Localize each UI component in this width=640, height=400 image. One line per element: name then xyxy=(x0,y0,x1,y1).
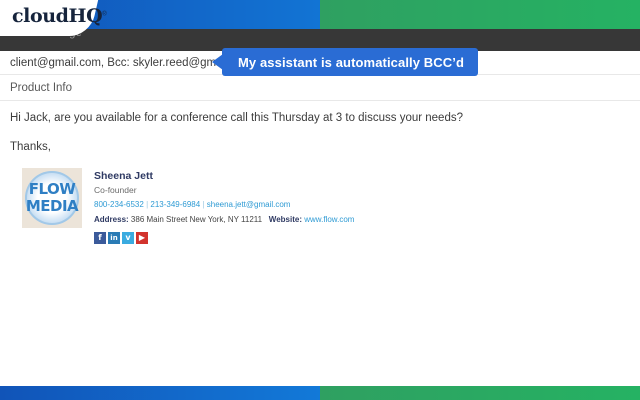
contact-separator-2: | xyxy=(202,200,204,209)
contact-separator-1: | xyxy=(146,200,148,209)
compose-body: client@gmail.com, Bcc: skyler.reed@gmail… xyxy=(0,51,640,244)
callout-text: My assistant is automatically BCC’d xyxy=(238,55,464,70)
message-body-line-1: Hi Jack, are you available for a confere… xyxy=(10,112,630,124)
bottom-bar-green-segment xyxy=(320,386,640,400)
address-label: Address: xyxy=(94,215,129,224)
registered-trademark-icon: ® xyxy=(102,12,106,18)
email-signature: FLOW MEDIA Sheena Jett Co-founder 800-23… xyxy=(10,164,630,244)
signature-phone-1[interactable]: 800-234-6532 xyxy=(94,200,144,209)
bottom-bar-blue-segment xyxy=(0,386,320,400)
callout-arrow-icon xyxy=(212,54,223,70)
address-value: 386 Main Street New York, NY 11211 xyxy=(131,215,262,224)
youtube-icon[interactable]: ▶ xyxy=(136,232,148,244)
twitter-icon[interactable]: ᴠ xyxy=(122,232,134,244)
signature-phone-2[interactable]: 213-349-6984 xyxy=(150,200,200,209)
linkedin-icon[interactable]: in xyxy=(108,232,120,244)
signature-details: Sheena Jett Co-founder 800-234-6532 | 21… xyxy=(82,168,354,244)
callout-bubble: My assistant is automatically BCC’d xyxy=(222,48,478,76)
cloudhq-logo: cloudHQ® xyxy=(12,7,106,27)
signature-contact-line: 800-234-6532 | 213-349-6984 | sheena.jet… xyxy=(94,197,354,212)
facebook-icon[interactable]: f xyxy=(94,232,106,244)
signature-job-title: Co-founder xyxy=(94,184,354,198)
flow-media-logo: FLOW MEDIA xyxy=(22,168,82,228)
signature-name: Sheena Jett xyxy=(94,170,354,184)
cloudhq-logo-text: cloudHQ xyxy=(12,5,102,27)
message-body-line-2: Thanks, xyxy=(10,141,630,153)
website-label: Website: xyxy=(269,215,302,224)
flow-media-logo-line-1: FLOW xyxy=(29,182,76,197)
signature-social-icons: f in ᴠ ▶ xyxy=(94,232,354,244)
flow-media-logo-line-2: MEDIA xyxy=(26,199,78,214)
signature-email[interactable]: sheena.jett@gmail.com xyxy=(207,200,291,209)
signature-address-line: Address: 386 Main Street New York, NY 11… xyxy=(94,212,354,229)
flow-media-logo-circle: FLOW MEDIA xyxy=(25,171,79,225)
bottom-brand-bar xyxy=(0,386,640,400)
top-bar-green-segment xyxy=(320,0,640,29)
website-link[interactable]: www.flow.com xyxy=(304,215,354,224)
message-body[interactable]: Hi Jack, are you available for a confere… xyxy=(0,101,640,244)
subject-field[interactable]: Product Info xyxy=(0,75,640,101)
